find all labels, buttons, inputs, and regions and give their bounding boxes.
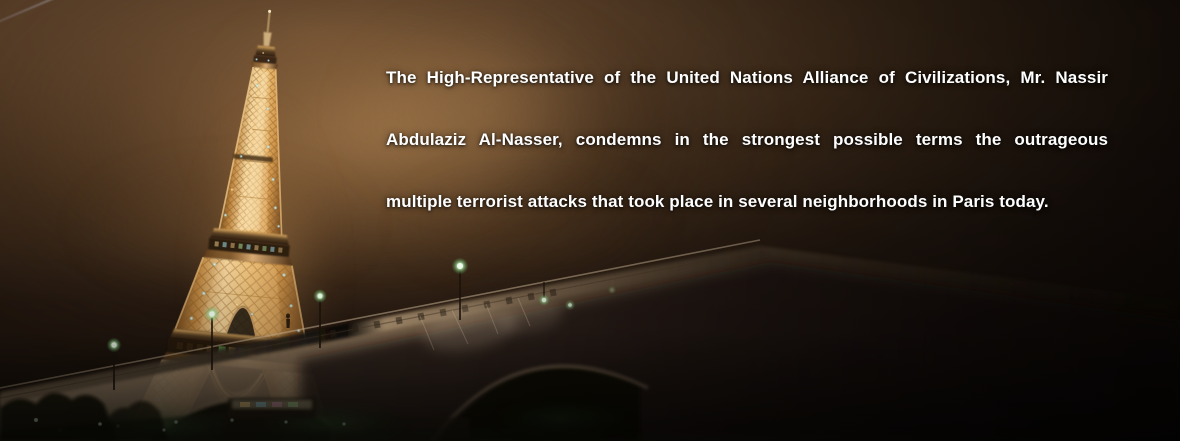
- statement-line-1: The High-Representative of the United Na…: [386, 62, 1108, 124]
- statement-text: The High-Representative of the United Na…: [386, 62, 1108, 217]
- hero-banner: The High-Representative of the United Na…: [0, 0, 1180, 441]
- bridge-pedestrian: [286, 313, 290, 328]
- water-foreground: [0, 331, 1180, 441]
- statement-line-2: Abdulaziz Al-Nasser, condemns in the str…: [386, 124, 1108, 186]
- statement-line-3: multiple terrorist attacks that took pla…: [386, 186, 1108, 217]
